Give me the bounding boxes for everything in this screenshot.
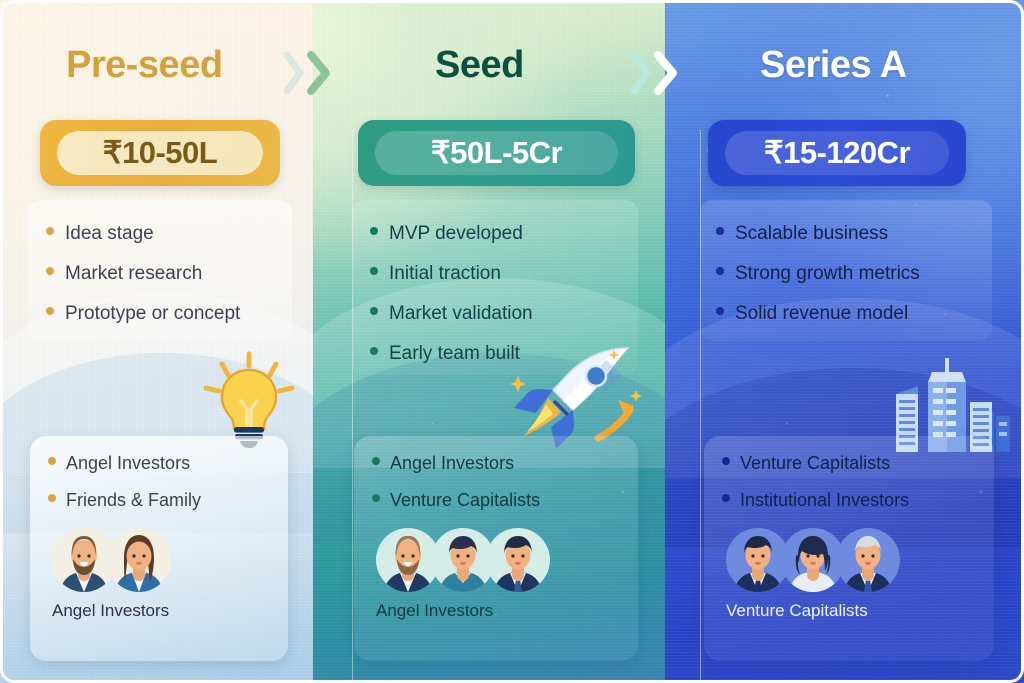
funding-amount-text: ₹15-120Cr	[725, 131, 949, 175]
criteria-text: Market research	[65, 264, 202, 283]
list-item: Prototype or concept	[46, 304, 240, 323]
criteria-text: MVP developed	[389, 224, 523, 243]
investor-text: Friends & Family	[66, 491, 201, 509]
investor-caption: Angel Investors	[30, 601, 288, 621]
investor-text: Angel Investors	[390, 454, 514, 472]
bullet-icon	[372, 494, 380, 502]
bullet-icon	[46, 227, 54, 235]
list-item: Idea stage	[46, 224, 240, 243]
list-item: Early team built	[370, 344, 533, 363]
bullet-icon	[46, 267, 54, 275]
double-chevron-right-icon	[653, 50, 683, 96]
bullet-icon	[372, 457, 380, 465]
stage-arrow-seed-to-series-a	[630, 50, 683, 96]
double-chevron-right-icon	[306, 50, 336, 96]
investor-card-pre-seed: Angel Investors Friends & Family	[30, 436, 288, 661]
list-item: Market research	[46, 264, 240, 283]
bullet-icon	[370, 347, 378, 355]
investor-text: Institutional Investors	[740, 491, 909, 509]
investor-card-series-a: Venture Capitalists Institutional Invest…	[704, 436, 994, 661]
investor-caption: Angel Investors	[354, 601, 638, 621]
funding-amount-badge-pre-seed: ₹10-50L	[40, 120, 280, 186]
list-item: Market validation	[370, 304, 533, 323]
stage-title-series-a: Series A	[760, 44, 907, 87]
bullet-icon	[48, 457, 56, 465]
list-item: Angel Investors	[48, 454, 288, 472]
criteria-text: Market validation	[389, 304, 533, 323]
investor-caption: Venture Capitalists	[704, 601, 994, 621]
avatar-group	[704, 528, 994, 592]
avatar	[836, 528, 900, 592]
investor-list: Venture Capitalists Institutional Invest…	[704, 436, 994, 509]
bullet-icon	[370, 267, 378, 275]
avatar	[107, 528, 171, 592]
criteria-list-pre-seed: Idea stage Market research Prototype or …	[46, 224, 240, 344]
bullet-icon	[370, 307, 378, 315]
criteria-text: Scalable business	[735, 224, 888, 243]
bullet-icon	[48, 494, 56, 502]
list-item: Scalable business	[716, 224, 920, 243]
panel-divider	[700, 130, 701, 683]
double-chevron-right-icon	[283, 50, 305, 96]
bullet-icon	[722, 457, 730, 465]
funding-amount-badge-series-a: ₹15-120Cr	[708, 120, 966, 186]
funding-stages-infographic: Pre-seed Seed Series A ₹10-50L ₹50L-5Cr …	[0, 0, 1024, 683]
criteria-list-series-a: Scalable business Strong growth metrics …	[716, 224, 920, 344]
list-item: Venture Capitalists	[722, 454, 994, 472]
list-item: Strong growth metrics	[716, 264, 920, 283]
funding-amount-text: ₹10-50L	[57, 131, 263, 175]
list-item: Venture Capitalists	[372, 491, 638, 509]
stage-title-seed: Seed	[435, 44, 524, 87]
investor-text: Angel Investors	[66, 454, 190, 472]
stage-title-pre-seed: Pre-seed	[66, 44, 223, 87]
criteria-text: Early team built	[389, 344, 520, 363]
investor-card-seed: Angel Investors Venture Capitalists	[354, 436, 638, 661]
criteria-text: Initial traction	[389, 264, 501, 283]
list-item: Initial traction	[370, 264, 533, 283]
criteria-list-seed: MVP developed Initial traction Market va…	[370, 224, 533, 384]
list-item: Solid revenue model	[716, 304, 920, 323]
stage-arrow-pre-seed-to-seed	[283, 50, 336, 96]
bullet-icon	[370, 227, 378, 235]
criteria-text: Strong growth metrics	[735, 264, 920, 283]
investor-text: Venture Capitalists	[390, 491, 540, 509]
criteria-text: Prototype or concept	[65, 304, 240, 323]
avatar-group	[30, 528, 288, 592]
avatar	[486, 528, 550, 592]
list-item: Angel Investors	[372, 454, 638, 472]
list-item: MVP developed	[370, 224, 533, 243]
funding-amount-text: ₹50L-5Cr	[375, 131, 618, 175]
investor-list: Angel Investors Friends & Family	[30, 436, 288, 509]
list-item: Friends & Family	[48, 491, 288, 509]
investor-list: Angel Investors Venture Capitalists	[354, 436, 638, 509]
bullet-icon	[716, 307, 724, 315]
avatar-group	[354, 528, 638, 592]
bullet-icon	[46, 307, 54, 315]
criteria-text: Idea stage	[65, 224, 154, 243]
bullet-icon	[716, 267, 724, 275]
investor-text: Venture Capitalists	[740, 454, 890, 472]
double-chevron-right-icon	[630, 50, 652, 96]
bullet-icon	[722, 494, 730, 502]
panel-divider	[352, 130, 353, 683]
criteria-text: Solid revenue model	[735, 304, 908, 323]
list-item: Institutional Investors	[722, 491, 994, 509]
bullet-icon	[716, 227, 724, 235]
funding-amount-badge-seed: ₹50L-5Cr	[358, 120, 635, 186]
